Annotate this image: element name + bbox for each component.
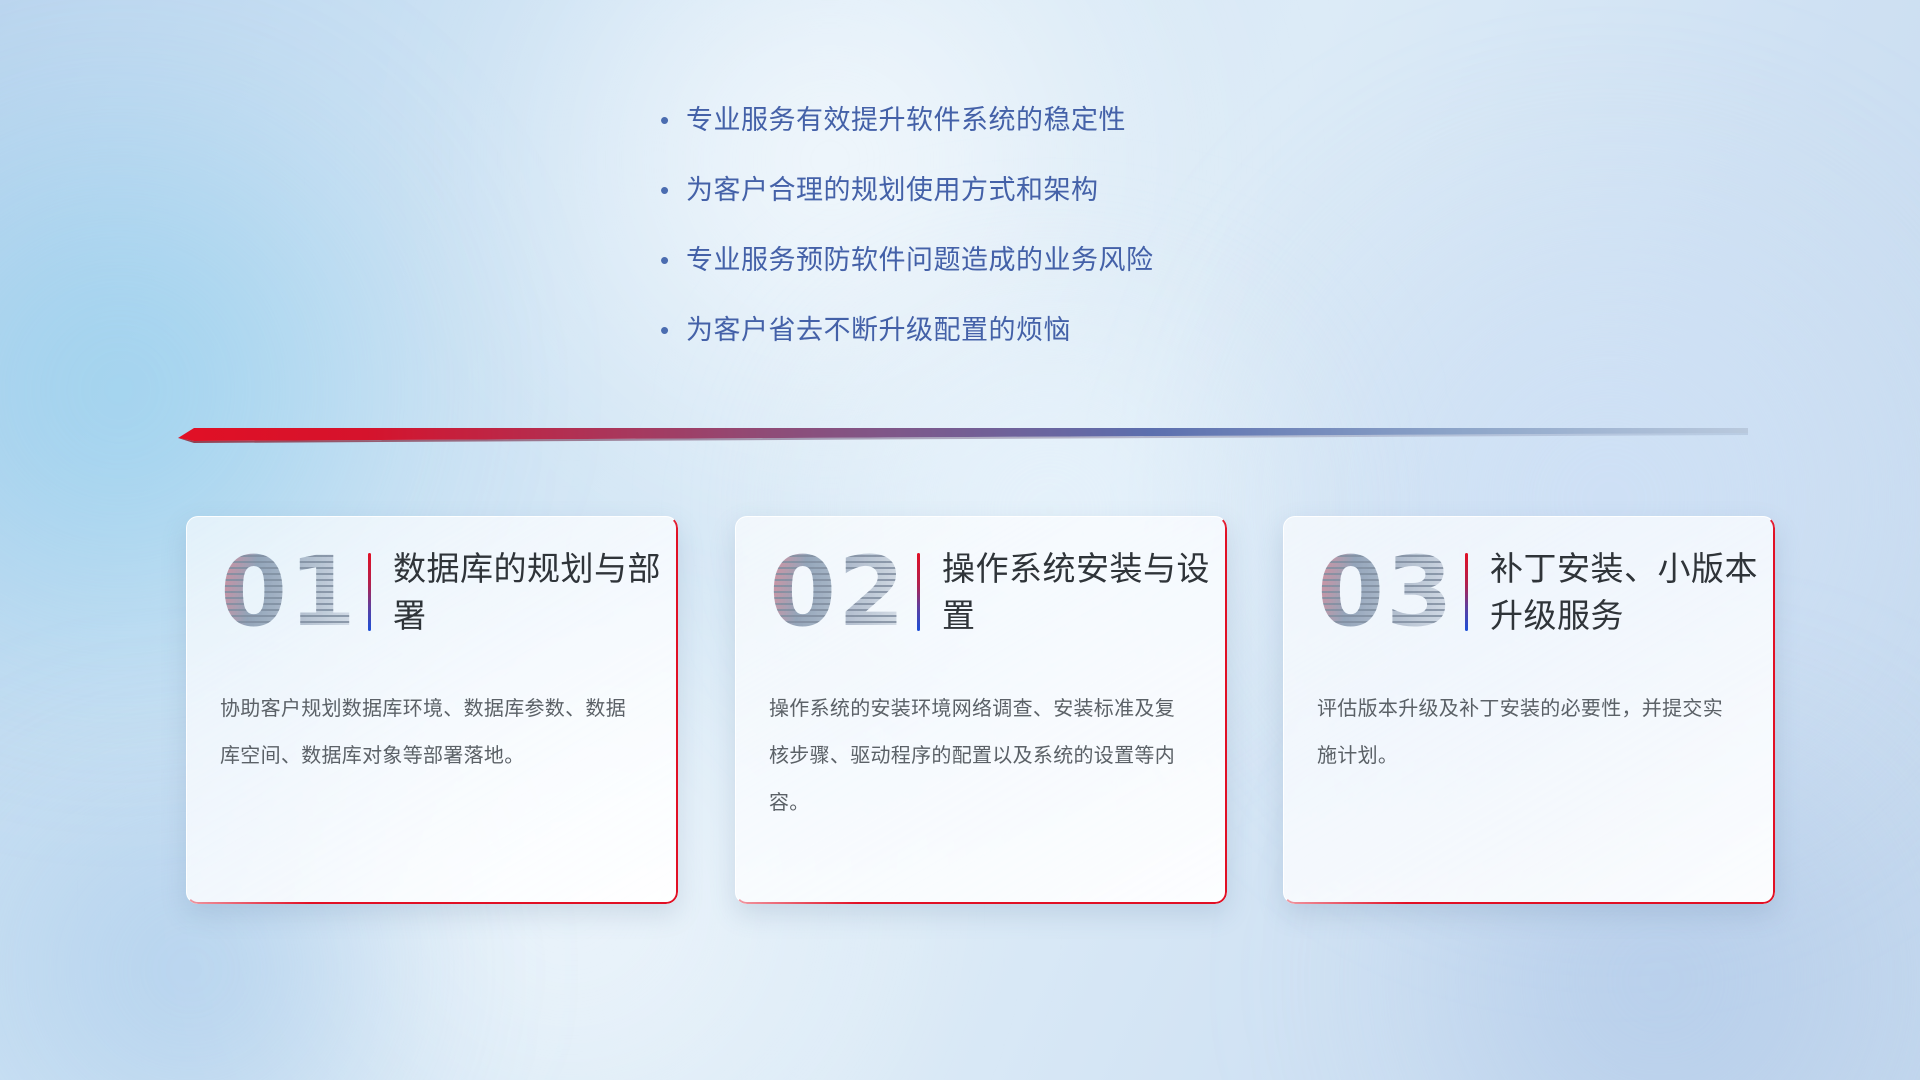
service-card[interactable]: 01 数据库的规划与部署 协助客户规划数据库环境、数据库参数、数据库空间、数据库… (186, 516, 678, 904)
card-header: 01 数据库的规划与部署 (186, 516, 678, 668)
list-item: • 专业服务预防软件问题造成的业务风险 (660, 240, 1420, 280)
card-title-divider (917, 553, 920, 631)
bullet-text: 专业服务有效提升软件系统的稳定性 (686, 100, 1126, 140)
card-number: 03 (1311, 537, 1461, 647)
card-title: 操作系统安装与设置 (942, 545, 1212, 639)
card-title: 数据库的规划与部署 (393, 545, 663, 639)
bullet-dot-icon: • (660, 170, 686, 210)
list-item: • 为客户省去不断升级配置的烦恼 (660, 310, 1420, 350)
list-item: • 专业服务有效提升软件系统的稳定性 (660, 100, 1420, 140)
card-title-divider (368, 553, 371, 631)
slide-canvas: • 专业服务有效提升软件系统的稳定性 • 为客户合理的规划使用方式和架构 • 专… (0, 0, 1920, 1080)
card-header: 02 操作系统安装与设置 (735, 516, 1227, 668)
service-card[interactable]: 02 操作系统安装与设置 操作系统的安装环境网络调查、安装标准及复核步骤、驱动程… (735, 516, 1227, 904)
list-item: • 为客户合理的规划使用方式和架构 (660, 170, 1420, 210)
bullet-text: 专业服务预防软件问题造成的业务风险 (686, 240, 1154, 280)
card-number: 01 (214, 537, 364, 647)
card-body-text: 操作系统的安装环境网络调查、安装标准及复核步骤、驱动程序的配置以及系统的设置等内… (735, 668, 1227, 827)
card-header: 03 补丁安装、小版本升级服务 (1283, 516, 1775, 668)
bullet-text: 为客户省去不断升级配置的烦恼 (686, 310, 1071, 350)
section-divider (178, 420, 1748, 446)
card-number: 02 (763, 537, 913, 647)
card-title: 补丁安装、小版本升级服务 (1490, 545, 1760, 639)
bullet-dot-icon: • (660, 240, 686, 280)
service-card[interactable]: 03 补丁安装、小版本升级服务 评估版本升级及补丁安装的必要性，并提交实施计划。 (1283, 516, 1775, 904)
card-body-text: 评估版本升级及补丁安装的必要性，并提交实施计划。 (1283, 668, 1775, 780)
service-card-group: 01 数据库的规划与部署 协助客户规划数据库环境、数据库参数、数据库空间、数据库… (0, 516, 1920, 926)
card-title-divider (1465, 553, 1468, 631)
bullet-dot-icon: • (660, 310, 686, 350)
bullet-dot-icon: • (660, 100, 686, 140)
card-body-text: 协助客户规划数据库环境、数据库参数、数据库空间、数据库对象等部署落地。 (186, 668, 678, 780)
bullet-list: • 专业服务有效提升软件系统的稳定性 • 为客户合理的规划使用方式和架构 • 专… (660, 100, 1420, 380)
bullet-text: 为客户合理的规划使用方式和架构 (686, 170, 1099, 210)
